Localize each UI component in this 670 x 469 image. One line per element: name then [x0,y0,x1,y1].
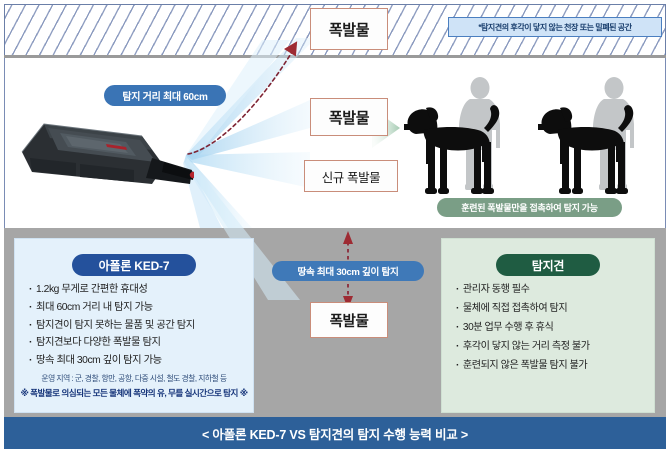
panel-right-bullet-list: 관리자 동행 필수 물체에 직접 접촉하여 탐지 30분 업무 수행 후 휴식 … [456,284,654,371]
list-item: 탐지견보다 다양한 폭발물 탐지 [29,337,253,348]
explosive-box-new: 신규 폭발물 [304,160,398,192]
handheld-detector-icon [14,100,194,200]
list-item: 훈련되지 않은 폭발물 탐지 불가 [456,360,654,371]
bottom-whitespace [0,449,670,469]
dog-capability-label: 훈련된 폭발물만을 접촉하여 탐지 가능 [437,198,622,217]
panel-left-title: 아폴론 KED-7 [72,254,196,276]
underground-depth-label: 땅속 최대 30cm 깊이 탐지 [272,261,424,281]
panel-left-realtime-note: ※ 폭발물로 의심되는 모든 물체에 폭약의 유, 무를 실시간으로 탐지 ※ [15,387,253,399]
ceiling-note-label: *탐지견의 후각이 닿지 않는 천장 또는 밀폐된 공간 [448,17,662,37]
detection-distance-label: 탐지 거리 최대 60cm [104,85,226,106]
list-item: 후각이 닿지 않는 거리 측정 불가 [456,341,654,352]
panel-right-title: 탐지견 [496,254,600,276]
explosive-box-air: 폭발물 [310,98,388,136]
explosive-box-buried: 폭발물 [310,302,388,338]
list-item: 물체에 직접 접촉하여 탐지 [456,303,654,314]
handler-silhouette-icon [404,74,520,200]
panel-apollon-ked7: 아폴론 KED-7 1.2kg 무게로 간편한 휴대성 최대 60cm 거리 내… [14,238,254,413]
bottom-caption-bar: < 아폴론 KED-7 VS 탐지견의 탐지 수행 능력 비교 > [4,417,666,449]
handler-silhouette-icon [538,74,654,200]
panel-detection-dog: 탐지견 관리자 동행 필수 물체에 직접 접촉하여 탐지 30분 업무 수행 후… [441,238,655,413]
infographic-canvas: *탐지견의 후각이 닿지 않는 천장 또는 밀폐된 공간 폭발물 탐지 거리 최… [0,0,670,469]
panel-left-operation-note: 운영 지역 : 군, 경찰, 항만, 공항, 다중 시설, 철도 경찰, 지하철… [15,373,253,384]
list-item: 1.2kg 무게로 간편한 휴대성 [29,284,253,295]
list-item: 30분 업무 수행 후 휴식 [456,322,654,333]
list-item: 관리자 동행 필수 [456,284,654,295]
panel-left-bullet-list: 1.2kg 무게로 간편한 휴대성 최대 60cm 거리 내 탐지 가능 탐지견… [29,284,253,367]
list-item: 최대 60cm 거리 내 탐지 가능 [29,302,253,313]
list-item: 탐지견이 탐지 못하는 물품 및 공간 탐지 [29,320,253,331]
explosive-box-ceiling: 폭발물 [310,8,388,50]
list-item: 땅속 최대 30cm 깊이 탐지 가능 [29,355,253,366]
caption-text: < 아폴론 KED-7 VS 탐지견의 탐지 수행 능력 비교 > [202,424,468,443]
